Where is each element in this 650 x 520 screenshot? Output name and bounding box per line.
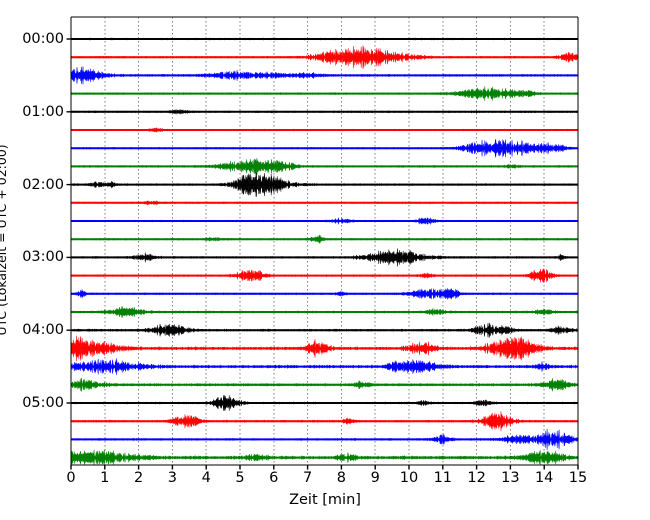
x-tick-label: 1: [100, 470, 109, 486]
x-tick-label: 9: [371, 470, 380, 486]
x-axis-label: Zeit [min]: [0, 492, 650, 508]
x-tick-label: 2: [134, 470, 143, 486]
x-tick-label: 15: [569, 470, 587, 486]
x-tick-label: 7: [303, 470, 312, 486]
x-tick-label: 10: [400, 470, 418, 486]
x-tick-label: 13: [501, 470, 519, 486]
x-tick-label: 4: [202, 470, 211, 486]
x-tick-label: 5: [235, 470, 244, 486]
x-tick-label: 8: [337, 470, 346, 486]
x-tick-label: 12: [467, 470, 485, 486]
y-axis-tick-labels: 00:0001:0002:0003:0004:0005:00: [0, 0, 64, 520]
x-tick-label: 11: [434, 470, 452, 486]
plot-background: [71, 17, 578, 465]
seismogram-figure: UTC (Lokalzeit = UTC + 02:00) 00:0001:00…: [0, 0, 650, 520]
x-tick-label: 6: [269, 470, 278, 486]
y-tick-label: 00:00: [22, 31, 64, 47]
y-tick-label: 05:00: [22, 395, 64, 411]
x-tick-label: 3: [168, 470, 177, 486]
y-tick-label: 03:00: [22, 249, 64, 265]
x-tick-label: 0: [66, 470, 75, 486]
y-tick-label: 04:00: [22, 322, 64, 338]
y-tick-label: 01:00: [22, 104, 64, 120]
x-tick-label: 14: [535, 470, 553, 486]
y-tick-label: 02:00: [22, 177, 64, 193]
